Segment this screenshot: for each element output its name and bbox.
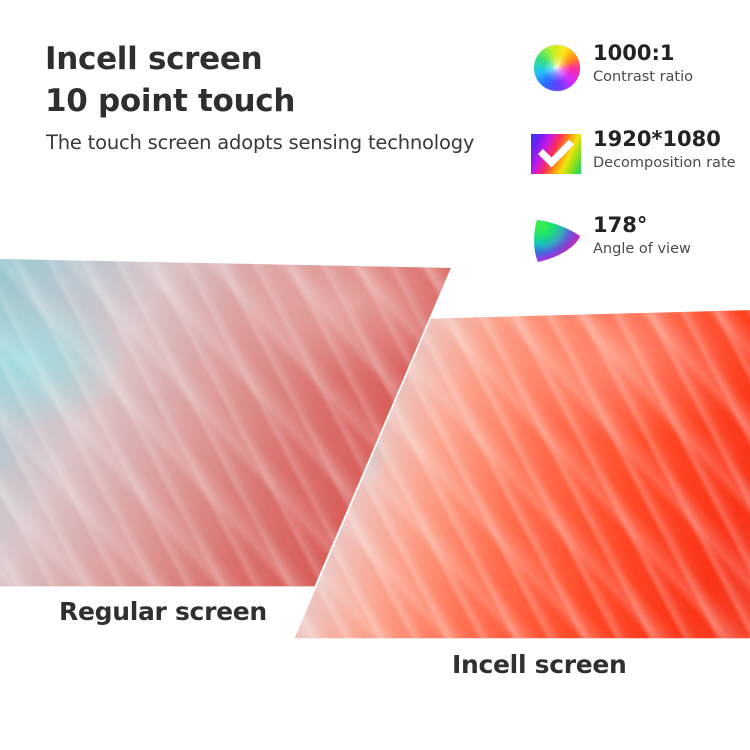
spec-item-angle-of-view: 178° Angle of view: [531, 212, 750, 298]
spec-value-decomposition-rate: 1920*1080: [593, 126, 736, 153]
spec-item-contrast-ratio: 1000:1 Contrast ratio: [531, 40, 750, 126]
check-mark-glyph: [531, 134, 581, 174]
rainbow-check-icon: [531, 128, 583, 180]
spec-list: 1000:1 Contrast ratio 1920*1080 Decompos…: [531, 40, 750, 298]
spec-label-angle-of-view: Angle of view: [593, 239, 691, 259]
caption-regular-screen: Regular screen: [59, 597, 267, 626]
page-subtitle: The touch screen adopts sensing technolo…: [46, 131, 474, 154]
spec-label-contrast-ratio: Contrast ratio: [593, 67, 693, 87]
page-title: Incell screen 10 point touch: [45, 38, 525, 122]
spec-value-contrast-ratio: 1000:1: [593, 40, 693, 67]
spec-label-decomposition-rate: Decomposition rate: [593, 153, 736, 173]
headline-line-2: 10 point touch: [45, 80, 525, 122]
spec-item-decomposition-rate: 1920*1080 Decomposition rate: [531, 126, 750, 212]
spec-value-angle-of-view: 178°: [593, 212, 691, 239]
caption-incell-screen: Incell screen: [452, 650, 627, 679]
chromaticity-gamut-icon: [531, 214, 583, 266]
color-wheel-icon: [531, 42, 583, 94]
headline-line-1: Incell screen: [45, 38, 525, 80]
product-feature-graphic: Incell screen 10 point touch The touch s…: [0, 0, 750, 750]
